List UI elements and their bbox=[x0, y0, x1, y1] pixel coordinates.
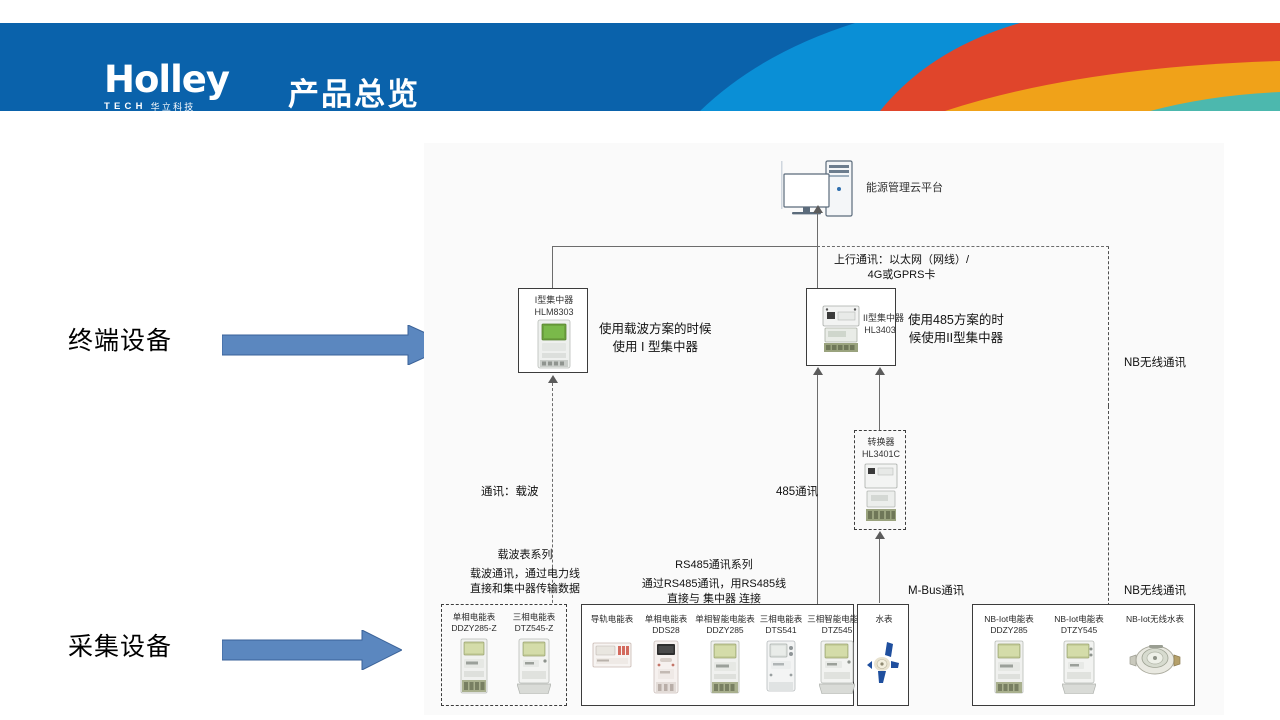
converter-model: HL3401C bbox=[855, 449, 907, 461]
item-model: DDZY285-Z bbox=[446, 623, 502, 634]
nbiot-three-phase-meter-icon bbox=[1062, 640, 1096, 694]
nbiot-meter-group-box[interactable]: NB-Iot电能表 DDZY285 bbox=[972, 604, 1195, 706]
concentrator-1-device-icon bbox=[536, 319, 572, 369]
smart-three-phase-meter-icon bbox=[819, 640, 855, 694]
converter-name: 转换器 bbox=[855, 437, 907, 449]
item-model: DDS28 bbox=[638, 625, 694, 636]
collection-arrow bbox=[222, 630, 402, 670]
concentrator-1-note: 使用载波方案的时候 使用 I 型集中器 bbox=[599, 320, 712, 356]
item-name: NB-Iot无线水表 bbox=[1119, 614, 1191, 625]
rs485-meter-group-box[interactable]: 导轨电能表 单相电能表 DDS28 bbox=[581, 604, 854, 706]
rs485-group-description: RS485通讯系列 通过RS485通讯，用RS485线 直接与 集中器 连接 bbox=[604, 558, 824, 607]
converter-caption: 转换器 HL3401C bbox=[855, 437, 907, 460]
carrier-group-title: 载波表系列 bbox=[454, 548, 596, 563]
concentrator-1-model: HLM8303 bbox=[519, 307, 589, 319]
concentrator-2-name: II型集中器 bbox=[863, 313, 897, 325]
carrier-group-desc1: 载波通讯，通过电力线 bbox=[454, 567, 596, 582]
list-item[interactable]: 单相电能表 DDZY285-Z bbox=[446, 612, 502, 694]
uplink-comm-label: 上行通讯：以太网（网线）/ 4G或GPRS卡 bbox=[834, 253, 969, 283]
three-phase-meter-icon bbox=[517, 638, 551, 694]
nb-wireless-line-mid bbox=[1108, 406, 1109, 616]
single-phase-meter-icon bbox=[653, 640, 679, 694]
comm-label-nb-right: NB无线通讯 bbox=[1124, 354, 1186, 370]
holley-logo: Holley TECH 华立科技 bbox=[104, 61, 274, 111]
uplink-line2: 4G或GPRS卡 bbox=[834, 268, 969, 283]
item-name: 水表 bbox=[858, 614, 910, 625]
item-name: 三相电能表 bbox=[505, 612, 563, 623]
item-name: 单相电能表 bbox=[638, 614, 694, 625]
architecture-diagram: 能源管理云平台 NB无线通讯 上行通讯：以太网（网线）/ 4G或GPRS卡 I型… bbox=[424, 143, 1224, 715]
item-model: DDZY285 bbox=[977, 625, 1041, 636]
logo-tech-text: TECH bbox=[104, 101, 147, 111]
list-item[interactable]: 导轨电能表 bbox=[585, 614, 639, 668]
uplink-line1: 上行通讯：以太网（网线）/ bbox=[834, 253, 969, 268]
trunk-bus-line bbox=[552, 246, 818, 247]
concentrator-2-note-line1: 使用485方案的时 bbox=[908, 311, 1004, 329]
concentrator-1-name: I型集中器 bbox=[519, 295, 589, 307]
rs485-comm-arrowhead bbox=[813, 367, 823, 375]
list-item[interactable]: 单相电能表 DDS28 bbox=[638, 614, 694, 694]
converter-box[interactable]: 转换器 HL3401C bbox=[854, 430, 906, 530]
concentrator-2-note: 使用485方案的时 候使用II型集中器 bbox=[908, 311, 1004, 347]
converter-uplink-arrowhead bbox=[875, 367, 885, 375]
mbus-comm-line bbox=[879, 538, 880, 603]
rs485-group-title: RS485通讯系列 bbox=[604, 558, 824, 573]
mbus-meter-group-box[interactable]: 水表 bbox=[857, 604, 909, 706]
list-item[interactable]: NB-Iot电能表 DDZY285 bbox=[977, 614, 1041, 694]
terminal-arrow bbox=[222, 325, 452, 365]
comm-label-mbus: M-Bus通讯 bbox=[908, 582, 964, 598]
list-item[interactable]: 单相智能电能表 DDZY285 bbox=[693, 614, 757, 694]
item-model: DTS541 bbox=[754, 625, 808, 636]
nbiot-wireless-water-meter-icon bbox=[1129, 641, 1181, 679]
section-label-terminal: 终端设备 bbox=[68, 321, 172, 357]
cloud-platform-label: 能源管理云平台 bbox=[866, 183, 943, 195]
list-item[interactable]: 三相电能表 DTS541 bbox=[754, 614, 808, 694]
comm-label-rs485: 485通讯 bbox=[776, 483, 818, 499]
page-header: Holley TECH 华立科技 产品总览 bbox=[0, 23, 1280, 111]
item-name: NB-Iot电能表 bbox=[977, 614, 1041, 625]
section-label-collection: 采集设备 bbox=[68, 627, 172, 663]
concentrator-1-note-line2: 使用 I 型集中器 bbox=[599, 338, 712, 356]
converter-device-icon bbox=[864, 463, 898, 523]
trunk-to-concentrator2-line bbox=[817, 246, 818, 288]
page-title: 产品总览 bbox=[288, 69, 420, 111]
concentrator-1-box[interactable]: I型集中器 HLM8303 bbox=[518, 288, 588, 373]
item-model: DDZY285 bbox=[693, 625, 757, 636]
logo-wordmark: Holley bbox=[104, 61, 274, 99]
list-item[interactable]: NB-Iot电能表 DTZY545 bbox=[1047, 614, 1111, 694]
smart-single-phase-meter-icon bbox=[710, 640, 740, 694]
nb-wireless-trunk-line bbox=[817, 246, 1109, 247]
item-name: 三相电能表 bbox=[754, 614, 808, 625]
list-item[interactable]: 水表 bbox=[858, 614, 910, 687]
logo-chinese-text: 华立科技 bbox=[151, 100, 196, 111]
din-rail-meter-icon bbox=[592, 642, 632, 668]
item-name: 单相智能电能表 bbox=[693, 614, 757, 625]
carrier-group-desc2: 直接和集中器传输数据 bbox=[454, 582, 596, 597]
list-item[interactable]: NB-Iot无线水表 bbox=[1119, 614, 1191, 679]
three-phase-meter-icon bbox=[766, 640, 796, 694]
single-phase-meter-icon bbox=[460, 638, 488, 694]
converter-to-concentrator2-line bbox=[879, 375, 880, 430]
comm-label-carrier: 通讯：载波 bbox=[481, 483, 539, 499]
comm-label-nb-bottom: NB无线通讯 bbox=[1124, 582, 1186, 598]
nbiot-single-phase-meter-icon bbox=[994, 640, 1024, 694]
list-item[interactable]: 三相电能表 DTZ545-Z bbox=[505, 612, 563, 694]
concentrator-1-caption: I型集中器 HLM8303 bbox=[519, 295, 589, 318]
water-meter-icon bbox=[867, 639, 901, 687]
concentrator-2-device-icon bbox=[821, 305, 861, 353]
desktop-computer-icon bbox=[779, 159, 857, 224]
concentrator-2-caption: II型集中器 HL3403 bbox=[863, 313, 897, 336]
item-name: 单相电能表 bbox=[446, 612, 502, 623]
item-model: DTZ545-Z bbox=[505, 623, 563, 634]
concentrator-2-model: HL3403 bbox=[863, 325, 897, 337]
cloud-uplink-line bbox=[817, 212, 818, 246]
item-name: NB-Iot电能表 bbox=[1047, 614, 1111, 625]
mbus-comm-arrowhead bbox=[875, 531, 885, 539]
carrier-comm-arrowhead bbox=[548, 375, 558, 383]
carrier-group-description: 载波表系列 载波通讯，通过电力线 直接和集中器传输数据 bbox=[454, 548, 596, 597]
rs485-group-desc1: 通过RS485通讯，用RS485线 bbox=[604, 577, 824, 592]
carrier-meter-group-box[interactable]: 单相电能表 DDZY285-Z bbox=[441, 604, 567, 706]
concentrator-2-note-line2: 候使用II型集中器 bbox=[908, 329, 1004, 347]
item-name: 导轨电能表 bbox=[585, 614, 639, 625]
nb-wireless-line-upper bbox=[1108, 246, 1109, 406]
concentrator-2-box[interactable]: II型集中器 HL3403 bbox=[806, 288, 896, 366]
item-model: DTZY545 bbox=[1047, 625, 1111, 636]
trunk-to-concentrator1-line bbox=[552, 246, 553, 288]
cloud-uplink-arrowhead bbox=[813, 205, 823, 213]
concentrator-1-note-line1: 使用载波方案的时候 bbox=[599, 320, 712, 338]
